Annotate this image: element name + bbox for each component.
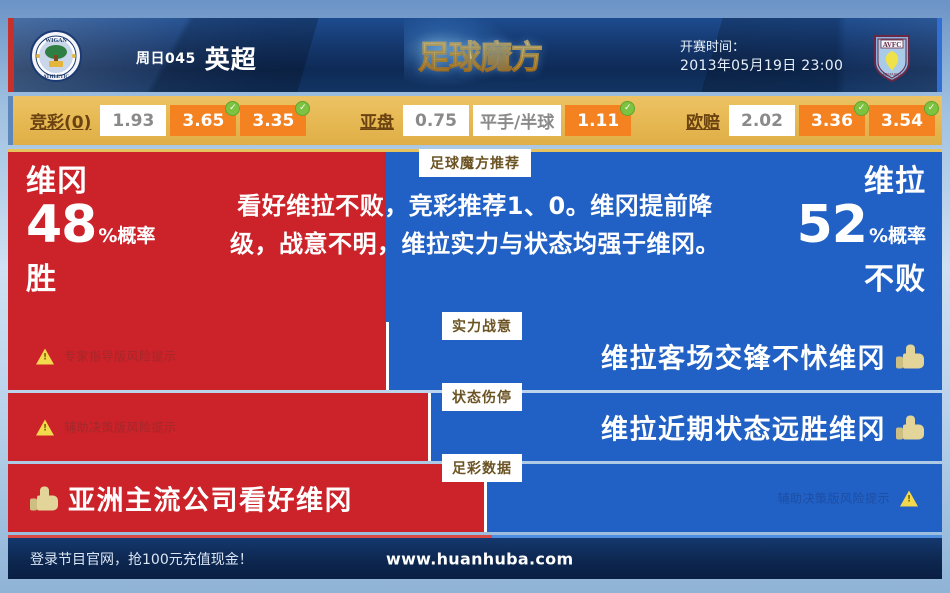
insight-headline-text: 亚洲主流公司看好维冈 bbox=[68, 479, 353, 518]
insight-row-tag: 实力战意 bbox=[442, 312, 522, 340]
league-name: 英超 bbox=[205, 45, 257, 74]
home-team-name: 维冈 bbox=[26, 165, 155, 199]
check-icon: ✓ bbox=[924, 101, 939, 116]
away-probability: 维拉 52%概率 不败 bbox=[797, 165, 926, 297]
check-icon: ✓ bbox=[295, 101, 310, 116]
home-probability-unit: %概率 bbox=[98, 225, 155, 247]
broadcast-graphic: WIGAN ATHLETIC AVFC PREPARED 周日045英超 足球魔… bbox=[0, 0, 950, 593]
svg-text:PREPARED: PREPARED bbox=[883, 73, 901, 77]
odds-group: 亚盘0.75平手/半球1.11✓ bbox=[360, 105, 635, 136]
svg-text:AVFC: AVFC bbox=[883, 41, 902, 49]
away-team-badge: AVFC PREPARED bbox=[866, 30, 918, 82]
insight-headline-text: 维拉客场交锋不怵维冈 bbox=[601, 337, 886, 376]
match-header: WIGAN ATHLETIC AVFC PREPARED 周日045英超 足球魔… bbox=[8, 18, 942, 92]
odds-group: 竞彩(0)1.933.65✓3.35✓ bbox=[30, 105, 310, 136]
odds-value: 0.75 bbox=[415, 111, 457, 131]
kickoff-time: 2013年05月19日 23:00 bbox=[680, 57, 843, 76]
header-blue-accent bbox=[937, 18, 942, 92]
risk-notice-text: 辅助决策版风险提示 bbox=[64, 419, 177, 436]
home-team-badge: WIGAN ATHLETIC bbox=[30, 30, 82, 82]
insight-headline: 维拉客场交锋不怵维冈 bbox=[601, 337, 924, 376]
check-icon: ✓ bbox=[620, 101, 635, 116]
odds-cell[interactable]: 3.54✓ bbox=[869, 105, 935, 136]
home-probability: 维冈 48%概率 胜 bbox=[26, 165, 155, 297]
insight-row-red-bar: 亚洲主流公司看好维冈 bbox=[8, 464, 484, 532]
odds-value: 平手/半球 bbox=[480, 108, 554, 133]
odds-cell[interactable]: 3.36✓ bbox=[799, 105, 865, 136]
insight-row: 专家指导版风险提示 维拉客场交锋不怵维冈 实力战意 bbox=[8, 322, 942, 390]
risk-notice-text: 专家指导版风险提示 bbox=[64, 348, 177, 365]
recommendation-text: 看好维拉不败，竞彩推荐1、0。维冈提前降级，战意不明，维拉实力与状态均强于维冈。 bbox=[230, 187, 720, 263]
footer-website-url[interactable]: www.huanhuba.com bbox=[386, 549, 573, 568]
footer-promo-text: 登录节目官网，抢100元充值现金！ bbox=[30, 549, 253, 569]
odds-group-label: 欧赔 bbox=[686, 108, 720, 133]
thumbs-up-icon bbox=[896, 344, 924, 368]
odds-value: 3.54 bbox=[881, 111, 923, 131]
odds-cell[interactable]: 3.35✓ bbox=[240, 105, 306, 136]
insight-row-tag: 状态伤停 bbox=[442, 383, 522, 411]
odds-cell[interactable]: 3.65✓ bbox=[170, 105, 236, 136]
insight-row: 亚洲主流公司看好维冈 辅助决策版风险提示 足彩数据 bbox=[8, 464, 942, 532]
check-icon: ✓ bbox=[225, 101, 240, 116]
away-probability-unit: %概率 bbox=[869, 225, 926, 247]
insight-row-blue-bar: 辅助决策版风险提示 bbox=[487, 464, 942, 532]
risk-notice-text: 辅助决策版风险提示 bbox=[777, 490, 890, 507]
away-outcome-label: 不败 bbox=[797, 263, 926, 297]
home-probability-value: 48 bbox=[26, 195, 96, 255]
odds-group: 欧赔2.023.36✓3.54✓ bbox=[686, 105, 939, 136]
home-outcome-label: 胜 bbox=[26, 263, 155, 297]
svg-text:WIGAN: WIGAN bbox=[45, 38, 67, 44]
match-title: 周日045英超 bbox=[136, 40, 257, 76]
warning-icon bbox=[36, 348, 54, 364]
check-icon: ✓ bbox=[854, 101, 869, 116]
probability-band: 维冈 48%概率 胜 维拉 52%概率 不败 足球魔方推荐 看好维拉不败，竞彩推… bbox=[8, 149, 942, 322]
odds-value: 1.11 bbox=[577, 111, 619, 131]
brand-logo: 足球魔方 bbox=[418, 34, 568, 80]
odds-group-label: 亚盘 bbox=[360, 108, 394, 133]
odds-value: 2.02 bbox=[741, 111, 783, 131]
insight-headline-text: 维拉近期状态远胜维冈 bbox=[601, 408, 886, 447]
away-probability-value: 52 bbox=[797, 195, 867, 255]
risk-notice: 辅助决策版风险提示 bbox=[777, 490, 918, 507]
thumbs-up-icon bbox=[30, 486, 58, 510]
svg-text:ATHLETIC: ATHLETIC bbox=[43, 75, 69, 80]
warning-icon bbox=[36, 419, 54, 435]
odds-value: 3.35 bbox=[252, 111, 294, 131]
insight-rows: 专家指导版风险提示 维拉客场交锋不怵维冈 实力战意 辅助决策版风险提示 bbox=[8, 322, 942, 535]
risk-notice: 辅助决策版风险提示 bbox=[36, 419, 177, 436]
risk-notice: 专家指导版风险提示 bbox=[36, 348, 177, 365]
insight-row-tag: 足彩数据 bbox=[442, 454, 522, 482]
odds-cell[interactable]: 1.11✓ bbox=[565, 105, 631, 136]
footer-blue-rule bbox=[492, 535, 942, 538]
recommendation-tag: 足球魔方推荐 bbox=[419, 149, 531, 177]
footer-bar: 登录节目官网，抢100元充值现金！ www.huanhuba.com bbox=[8, 538, 942, 579]
odds-cell[interactable]: 平手/半球 bbox=[473, 105, 561, 136]
odds-bar: 竞彩(0)1.933.65✓3.35✓亚盘0.75平手/半球1.11✓欧赔2.0… bbox=[8, 96, 942, 145]
brand-logo-text: 足球魔方 bbox=[418, 34, 568, 80]
insight-row-red-bar: 辅助决策版风险提示 bbox=[8, 393, 428, 461]
footer-red-rule bbox=[8, 535, 492, 538]
away-team-name: 维拉 bbox=[797, 165, 926, 199]
odds-value: 3.65 bbox=[182, 111, 224, 131]
insight-row: 辅助决策版风险提示 维拉近期状态远胜维冈 状态伤停 bbox=[8, 393, 942, 461]
odds-cell[interactable]: 2.02 bbox=[729, 105, 795, 136]
insight-row-red-bar: 专家指导版风险提示 bbox=[8, 322, 386, 390]
kickoff-label: 开赛时间： bbox=[680, 38, 843, 57]
odds-cell[interactable]: 1.93 bbox=[100, 105, 166, 136]
kickoff-info: 开赛时间： 2013年05月19日 23:00 bbox=[680, 38, 843, 76]
warning-icon bbox=[900, 490, 918, 506]
odds-group-label: 竞彩(0) bbox=[30, 108, 91, 133]
odds-cell[interactable]: 0.75 bbox=[403, 105, 469, 136]
odds-left-edge bbox=[8, 96, 13, 145]
odds-value: 3.36 bbox=[811, 111, 853, 131]
match-number: 周日045 bbox=[136, 51, 196, 67]
header-red-accent bbox=[8, 18, 14, 92]
thumbs-up-icon bbox=[896, 415, 924, 439]
insight-headline: 亚洲主流公司看好维冈 bbox=[30, 479, 353, 518]
insight-headline: 维拉近期状态远胜维冈 bbox=[601, 408, 924, 447]
odds-value: 1.93 bbox=[112, 111, 154, 131]
